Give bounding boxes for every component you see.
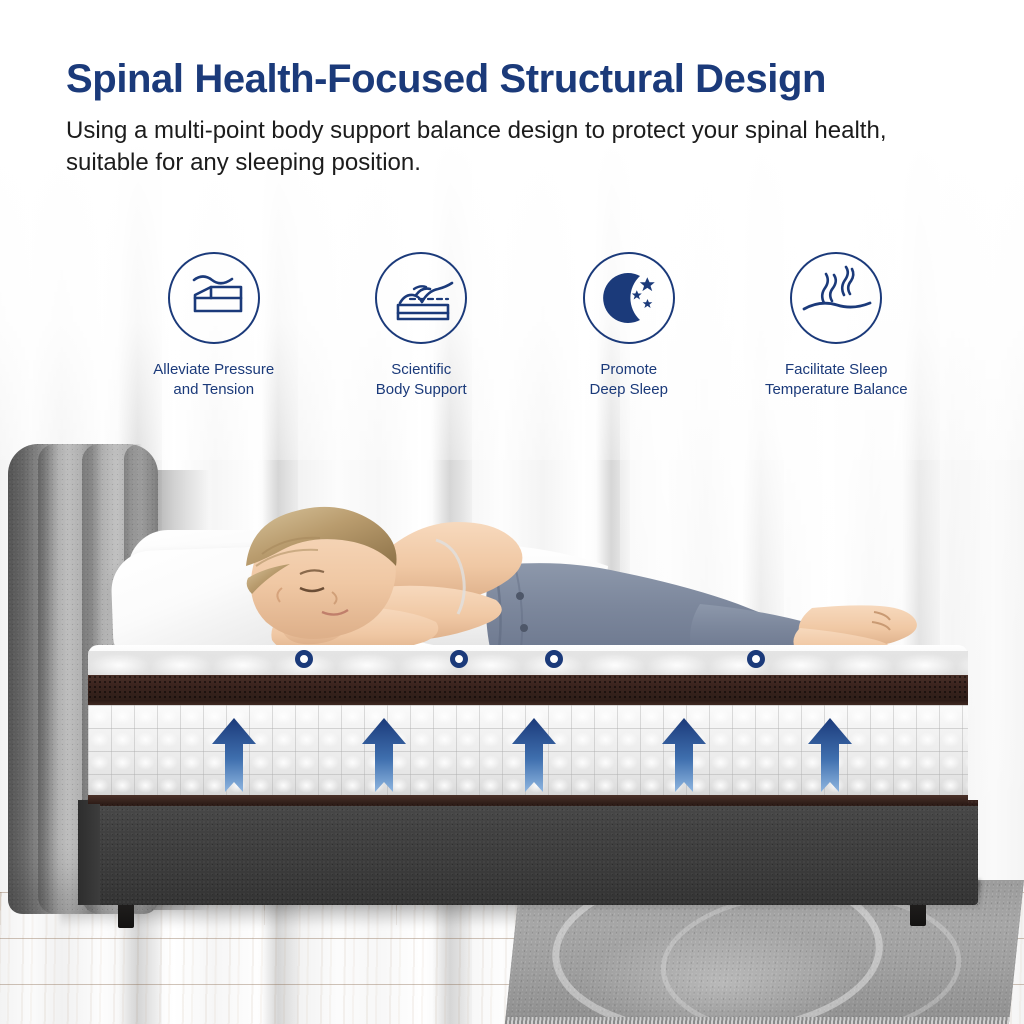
support-arrow-5 xyxy=(808,718,852,800)
pants-button xyxy=(520,624,528,632)
feature-icon-circle xyxy=(583,252,675,344)
bed-base xyxy=(78,800,978,905)
support-arrow-1 xyxy=(212,718,256,800)
page-subtitle: Using a multi-point body support balance… xyxy=(66,115,916,180)
feature-list: Alleviate Pressure and Tension xyxy=(110,252,940,412)
bed-base-fabric-texture xyxy=(78,800,978,905)
feature-label: Alleviate Pressure and Tension xyxy=(153,360,274,400)
moon-stars-icon xyxy=(596,267,662,329)
mattress-pressure-icon xyxy=(181,267,247,329)
feature-icon-circle xyxy=(168,252,260,344)
page-title: Spinal Health-Focused Structural Design xyxy=(66,58,966,101)
feature-item-body-support[interactable]: Scientific Body Support xyxy=(318,252,526,412)
feature-icon-circle xyxy=(375,252,467,344)
support-point-legs xyxy=(747,650,765,668)
support-arrow-4 xyxy=(662,718,706,800)
feature-label: Scientific Body Support xyxy=(376,360,467,400)
mattress-mesh-band xyxy=(88,675,968,705)
feature-icon-circle xyxy=(790,252,882,344)
support-point-shoulder xyxy=(295,650,313,668)
temperature-balance-icon xyxy=(800,265,872,331)
mattress-pillow-top xyxy=(88,645,968,677)
support-arrow-3 xyxy=(512,718,556,800)
feature-item-alleviate-pressure[interactable]: Alleviate Pressure and Tension xyxy=(110,252,318,412)
feature-item-deep-sleep[interactable]: Promote Deep Sleep xyxy=(525,252,733,412)
pants-button xyxy=(516,592,524,600)
support-point-waist xyxy=(450,650,468,668)
support-arrow-2 xyxy=(362,718,406,800)
product-feature-banner: Spinal Health-Focused Structural Design … xyxy=(0,0,1024,1024)
body-support-icon xyxy=(388,267,454,329)
feature-item-temperature-balance[interactable]: Facilitate Sleep Temperature Balance xyxy=(733,252,941,412)
support-point-hip xyxy=(545,650,563,668)
feature-label: Promote Deep Sleep xyxy=(590,360,668,400)
pillow-top-quilting xyxy=(88,651,968,677)
feature-label: Facilitate Sleep Temperature Balance xyxy=(765,360,908,400)
bed-base-left-edge xyxy=(78,800,100,905)
